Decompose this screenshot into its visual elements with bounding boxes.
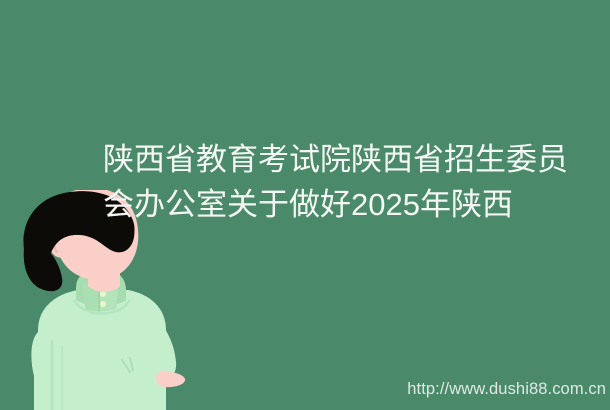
- watermark-url: http://www.dushi88.com.cn: [407, 380, 606, 398]
- sweater-left-edge: [31, 332, 38, 410]
- title-line-2: 会办公室关于做好2025年陕西: [103, 182, 513, 227]
- title-line-1: 陕西省教育考试院陕西省招生委员: [103, 137, 513, 182]
- hand: [156, 372, 185, 387]
- poster-title: 陕西省教育考试院陕西省招生委员 会办公室关于做好2025年陕西: [103, 137, 513, 227]
- poster-canvas: 陕西省教育考试院陕西省招生委员 会办公室关于做好2025年陕西 http://w…: [0, 0, 610, 410]
- button-middle: [100, 301, 106, 307]
